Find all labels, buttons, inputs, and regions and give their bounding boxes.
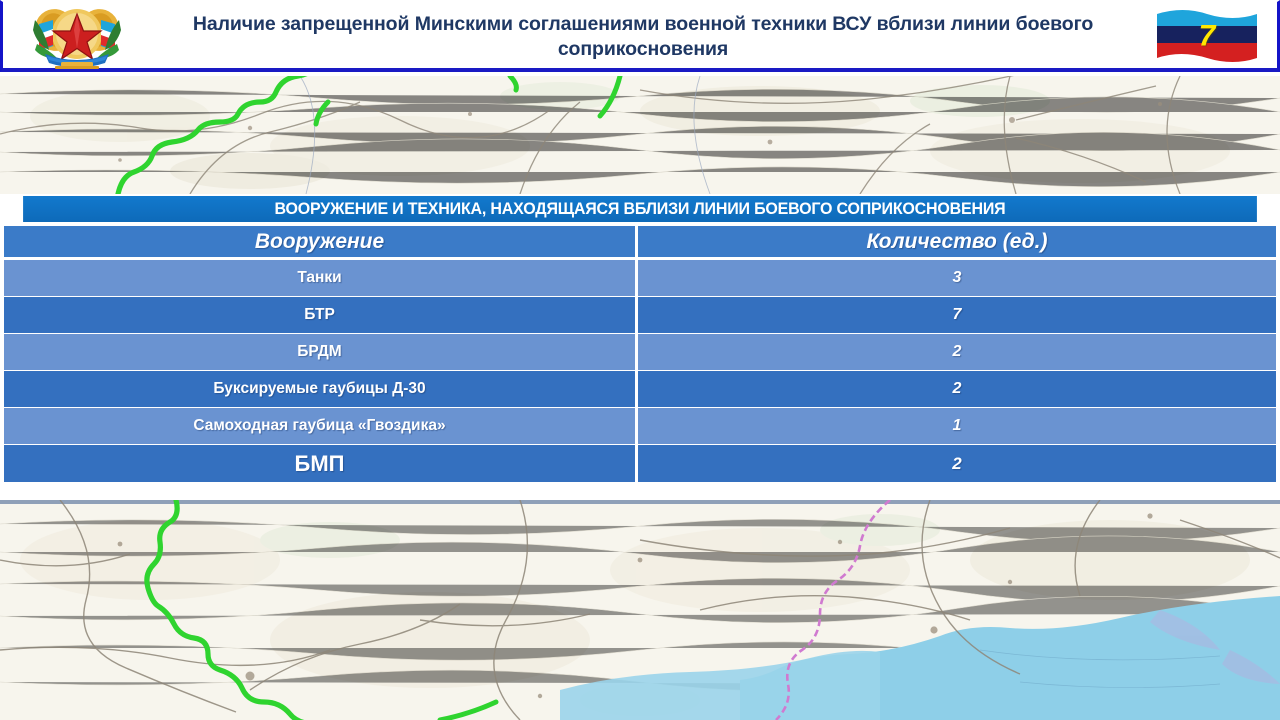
table-header-row: Вооружение Количество (ед.) (4, 226, 1276, 260)
weapons-table-block: ВООРУЖЕНИЕ И ТЕХНИКА, НАХОДЯЩАЯСЯ ВБЛИЗИ… (4, 196, 1276, 482)
topographic-map-bottom (0, 500, 1280, 720)
cell-weapon: БРДМ (4, 334, 638, 371)
page-title-block: Наличие запрещенной Минскими соглашениям… (143, 6, 1143, 68)
table-row: Самоходная гаубица «Гвоздика» 1 (4, 408, 1276, 445)
slide-header: Наличие запрещенной Минскими соглашениям… (0, 0, 1280, 72)
cell-weapon: Буксируемые гаубицы Д-30 (4, 371, 638, 408)
lpr-coat-of-arms-icon (21, 4, 133, 70)
column-header-weapon: Вооружение (4, 226, 638, 260)
cell-quantity: 1 (638, 408, 1276, 445)
table-row: Буксируемые гаубицы Д-30 2 (4, 371, 1276, 408)
table-row: Танки 3 (4, 260, 1276, 297)
cell-quantity: 3 (638, 260, 1276, 297)
table-row: БТР 7 (4, 297, 1276, 334)
table-head: Вооружение Количество (ед.) (4, 226, 1276, 260)
cell-quantity: 2 (638, 334, 1276, 371)
cell-quantity: 7 (638, 297, 1276, 334)
table-body: Танки 3 БТР 7 БРДМ 2 Буксируемые гаубицы… (4, 260, 1276, 482)
lpr-flag-icon: 7 (1155, 8, 1259, 66)
cell-weapon: БТР (4, 297, 638, 334)
page-title: Наличие запрещенной Минскими соглашениям… (143, 12, 1143, 62)
cell-weapon: Самоходная гаубица «Гвоздика» (4, 408, 638, 445)
cell-weapon: БМП (4, 445, 638, 482)
topographic-map-top (0, 76, 1280, 194)
column-header-quantity: Количество (ед.) (638, 226, 1276, 260)
cell-quantity: 2 (638, 371, 1276, 408)
table-caption: ВООРУЖЕНИЕ И ТЕХНИКА, НАХОДЯЩАЯСЯ ВБЛИЗИ… (23, 196, 1257, 222)
cell-weapon: Танки (4, 260, 638, 297)
table-row: БМП 2 (4, 445, 1276, 482)
slide-root: Наличие запрещенной Минскими соглашениям… (0, 0, 1280, 720)
table-row: БРДМ 2 (4, 334, 1276, 371)
weapons-table: Вооружение Количество (ед.) Танки 3 БТР … (4, 226, 1276, 482)
cell-quantity: 2 (638, 445, 1276, 482)
